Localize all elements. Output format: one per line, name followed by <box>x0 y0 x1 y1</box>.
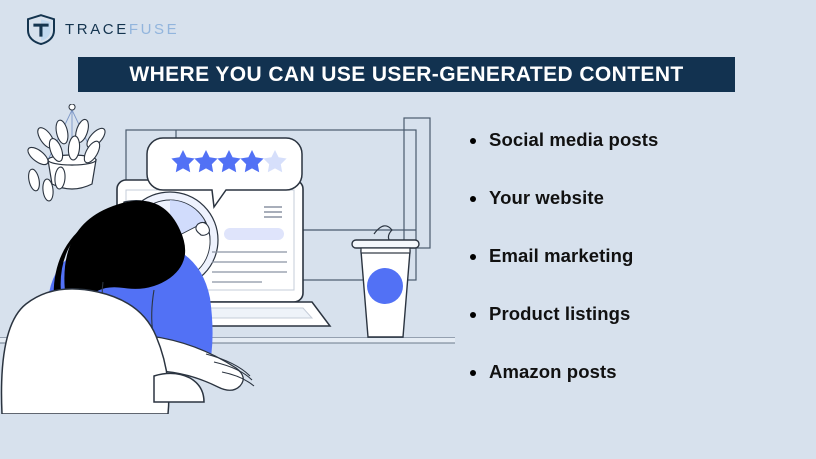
shield-t-logo-icon <box>26 14 56 45</box>
use-cases-list: Social media posts Your website Email ma… <box>470 131 800 421</box>
person-at-laptop-illustration <box>0 104 455 414</box>
slide-canvas: TRACEFUSE WHERE YOU CAN USE USER-GENERAT… <box>0 0 816 459</box>
bullet-dot-icon <box>470 138 476 144</box>
content-pill <box>224 228 284 240</box>
brand-name: TRACEFUSE <box>65 22 179 37</box>
bullet-dot-icon <box>470 196 476 202</box>
list-item-label: Email marketing <box>489 247 633 266</box>
page-title: WHERE YOU CAN USE USER-GENERATED CONTENT <box>129 64 683 85</box>
list-item-label: Social media posts <box>489 131 658 150</box>
bullet-dot-icon <box>470 312 476 318</box>
cup-logo-icon <box>367 268 403 304</box>
title-banner: WHERE YOU CAN USE USER-GENERATED CONTENT <box>78 57 735 92</box>
list-item-label: Your website <box>489 189 604 208</box>
list-item: Product listings <box>470 305 800 363</box>
list-item: Your website <box>470 189 800 247</box>
brand-logo: TRACEFUSE <box>26 13 179 45</box>
brand-name-primary: TRACE <box>65 21 129 38</box>
list-item-label: Amazon posts <box>489 363 617 382</box>
brand-name-secondary: FUSE <box>129 21 179 38</box>
hanging-plant-icon <box>25 104 108 201</box>
list-item: Social media posts <box>470 131 800 189</box>
list-item-label: Product listings <box>489 305 630 324</box>
bullet-dot-icon <box>470 370 476 376</box>
illustration-svg <box>0 104 455 414</box>
list-item: Amazon posts <box>470 363 800 421</box>
list-item: Email marketing <box>470 247 800 305</box>
coffee-cup-icon <box>352 226 419 337</box>
bullet-dot-icon <box>470 254 476 260</box>
